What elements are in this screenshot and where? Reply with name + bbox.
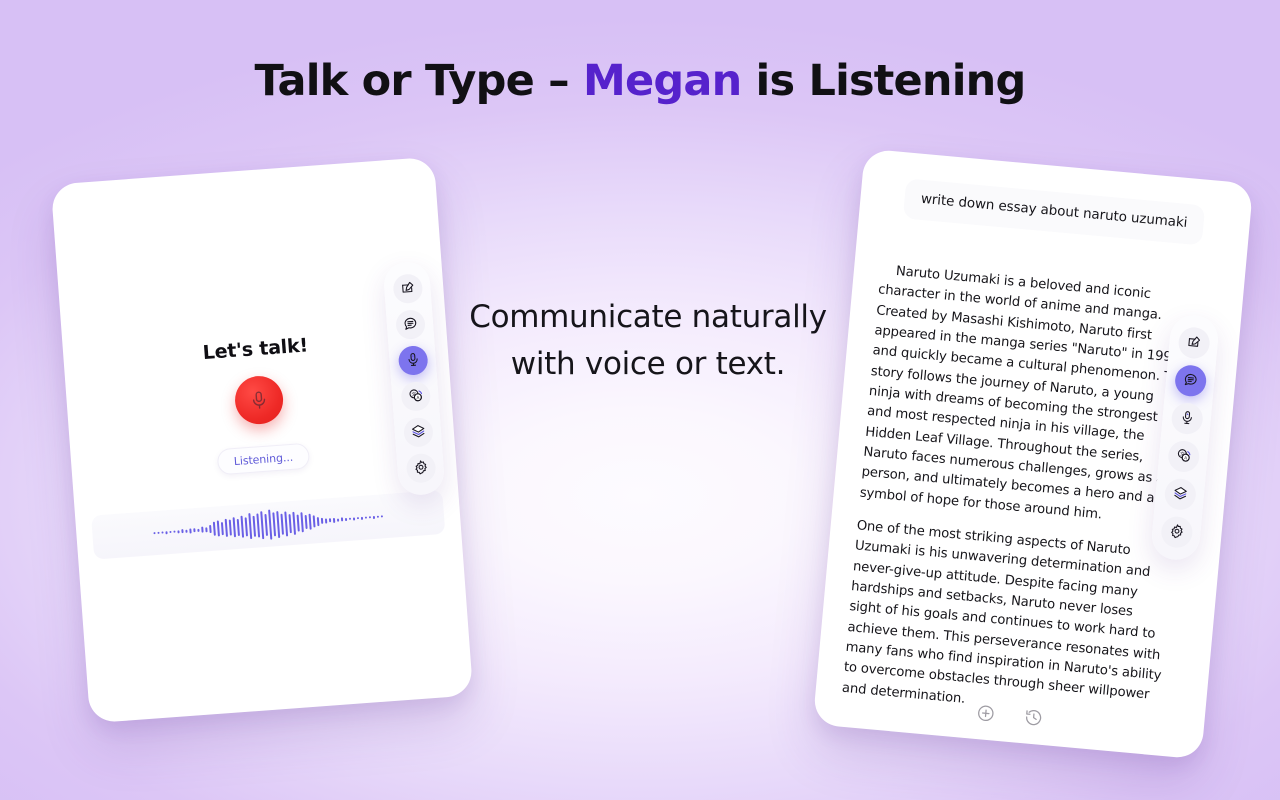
- waveform-bar: [237, 518, 240, 535]
- waveform-bar: [284, 511, 288, 536]
- plus-circle-icon: [975, 703, 996, 727]
- waveform-bar: [309, 514, 312, 530]
- assistant-response: Naruto Uzumaki is a beloved and iconic c…: [840, 260, 1198, 740]
- waveform-bar: [201, 527, 203, 533]
- waveform-bar: [193, 528, 195, 532]
- waveform-bar: [252, 515, 256, 536]
- page-title-accent: Megan: [583, 56, 741, 106]
- history-icon: [1023, 707, 1044, 731]
- waveform-bar: [189, 528, 191, 533]
- user-prompt-bubble: write down essay about naruto uzumaki: [903, 178, 1205, 245]
- waveform-bar: [213, 522, 216, 536]
- chat-footer-history[interactable]: [1021, 707, 1045, 731]
- waveform-bar: [373, 515, 375, 518]
- gear-icon: [1168, 522, 1185, 541]
- waveform-bar: [341, 517, 343, 521]
- voice-rail-item-translate[interactable]: 文A: [400, 381, 431, 412]
- waveform-bar: [361, 516, 363, 519]
- waveform-bar: [305, 515, 308, 529]
- waveform-bar: [233, 517, 236, 537]
- waveform-bar: [321, 518, 323, 524]
- waveform-bar: [300, 512, 303, 532]
- microphone-icon: [248, 389, 269, 410]
- response-paragraph: Naruto Uzumaki is a beloved and iconic c…: [859, 260, 1198, 532]
- status-badge-label: Listening...: [233, 450, 293, 467]
- waveform-bar: [365, 517, 367, 519]
- waveform-bar: [288, 514, 291, 533]
- waveform-bar: [225, 519, 228, 537]
- waveform-bar: [292, 511, 296, 534]
- waveform-bar: [325, 518, 327, 523]
- chat-bubble-icon: [1182, 371, 1199, 390]
- svg-text:A: A: [416, 394, 419, 399]
- voice-rail-item-compose[interactable]: [392, 273, 423, 304]
- waveform-bar: [240, 516, 244, 538]
- waveform-bar: [185, 529, 187, 532]
- gear-icon: [412, 459, 428, 478]
- waveform-bar: [345, 517, 347, 520]
- waveform-bar: [349, 518, 351, 520]
- waveform-bar: [177, 530, 179, 533]
- waveform-bar: [313, 515, 316, 527]
- layers-icon: [1172, 485, 1189, 504]
- waveform-bar: [381, 515, 383, 517]
- layers-icon: [410, 423, 426, 442]
- waveform-bar: [337, 518, 339, 521]
- translate-icon: 文A: [407, 387, 423, 406]
- waveform-bar: [229, 520, 232, 536]
- chat-bubble-icon: [402, 315, 418, 334]
- microphone-icon: [1178, 409, 1195, 428]
- waveform-bar: [205, 527, 207, 532]
- waveform-bar: [217, 520, 220, 536]
- chat-rail-item-layers[interactable]: [1163, 477, 1197, 511]
- waveform-bar: [369, 516, 371, 518]
- waveform-bar: [333, 517, 335, 522]
- voice-rail-item-voice[interactable]: [397, 345, 428, 376]
- waveform-bar: [297, 514, 300, 531]
- voice-rail-item-layers[interactable]: [402, 417, 433, 448]
- chat-rail-item-voice[interactable]: [1170, 402, 1204, 436]
- chat-rail-item-chat[interactable]: [1173, 364, 1207, 398]
- status-badge: Listening...: [217, 443, 311, 476]
- compose-icon: [399, 279, 415, 298]
- waveform-bar: [272, 512, 276, 536]
- waveform-strip: [91, 490, 445, 560]
- waveform-bar: [161, 531, 163, 533]
- record-mic-button[interactable]: [233, 374, 284, 425]
- page-title-part-2: is Listening: [741, 56, 1025, 106]
- chat-footer-plus-circle[interactable]: [973, 703, 997, 727]
- waveform-bar: [221, 522, 224, 535]
- waveform-bar: [153, 532, 155, 534]
- waveform-bar: [264, 514, 268, 536]
- voice-rail-item-settings[interactable]: [405, 453, 436, 484]
- page-title: Talk or Type – Megan is Listening: [0, 56, 1280, 106]
- translate-icon: 文A: [1175, 447, 1192, 466]
- page-title-part-1: Talk or Type –: [255, 56, 583, 106]
- waveform-bar: [245, 517, 248, 536]
- waveform-bar: [157, 532, 159, 534]
- center-tagline: Communicate naturally with voice or text…: [453, 294, 843, 388]
- waveform-bar: [197, 528, 199, 531]
- waveform-bar: [209, 525, 212, 533]
- microphone-icon: [405, 351, 421, 370]
- waveform-bar: [173, 531, 175, 533]
- waveform-bar: [353, 517, 355, 520]
- waveform-bar: [169, 531, 171, 533]
- waveform-bar: [165, 531, 167, 534]
- chat-rail-item-compose[interactable]: [1177, 326, 1211, 360]
- waveform-bar: [377, 516, 379, 518]
- chat-rail-item-translate[interactable]: 文A: [1166, 440, 1200, 474]
- waveform-bar: [357, 517, 359, 519]
- waveform-bar: [256, 513, 260, 537]
- waveform-bar: [317, 517, 320, 526]
- promo-screenshot: Talk or Type – Megan is Listening Commun…: [0, 0, 1280, 800]
- compose-icon: [1185, 333, 1202, 352]
- waveform-bar: [329, 518, 331, 522]
- chat-rail-item-settings[interactable]: [1160, 515, 1194, 549]
- waveform-bar: [181, 529, 183, 533]
- waveform-bar: [280, 513, 284, 534]
- waveform-bars: [91, 490, 445, 560]
- voice-rail-item-chat[interactable]: [395, 309, 426, 340]
